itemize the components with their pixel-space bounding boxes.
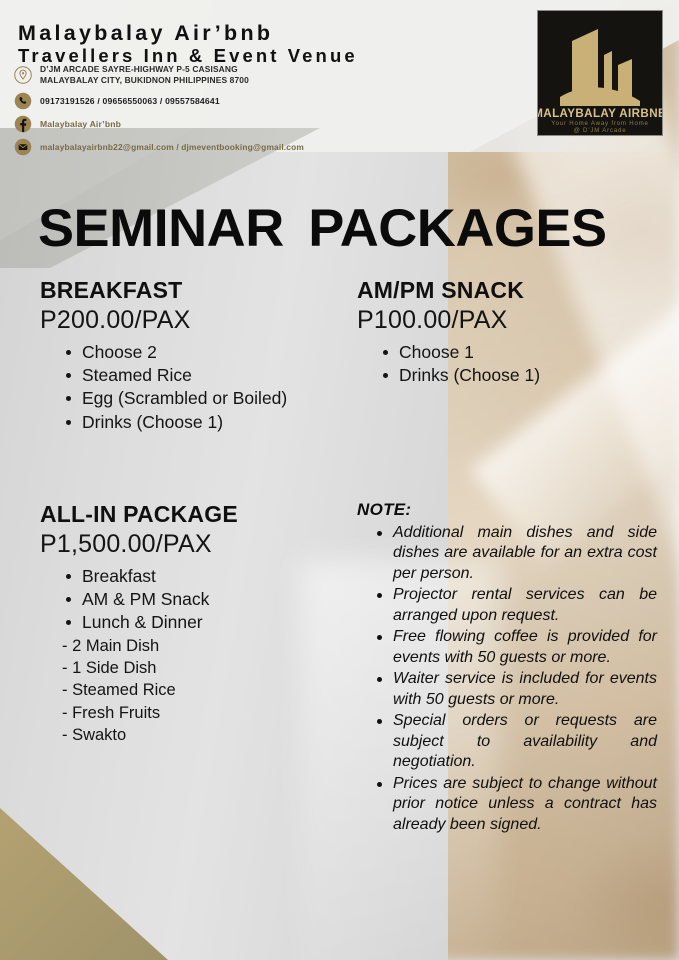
title-part-2: PACKAGES: [308, 199, 606, 258]
note-text: Special orders or requests are subject t…: [393, 712, 657, 770]
contact-address-row: D’JM ARCADE SAYRE-HIGHWAY P-5 CASISANG M…: [14, 62, 304, 88]
list-item: Egg (Scrambled or Boiled): [66, 387, 287, 410]
note-block: NOTE: Additional main dishes and side di…: [357, 500, 657, 836]
list-item: Drinks (Choose 1): [66, 411, 287, 434]
package-all-in-name: ALL-IN PACKAGE: [40, 502, 238, 528]
envelope-icon: [14, 138, 32, 156]
package-snack-name: AM/PM SNACK: [357, 278, 540, 304]
list-item: Projector rental services can be arrange…: [377, 585, 657, 626]
svg-text:@ D’JM Arcade: @ D’JM Arcade: [574, 127, 627, 134]
package-snack-price: P100.00/PAX: [357, 305, 540, 335]
brand-name: Malaybalay Air’bnb: [18, 22, 358, 45]
list-item: - 1 Side Dish: [62, 657, 238, 679]
note-items: Additional main dishes and side dishes a…: [357, 523, 657, 835]
package-all-in-items: Breakfast AM & PM Snack Lunch & Dinner: [40, 565, 238, 635]
package-breakfast: BREAKFAST P200.00/PAX Choose 2 Steamed R…: [40, 278, 287, 434]
package-breakfast-price: P200.00/PAX: [40, 305, 287, 335]
list-item: Choose 2: [66, 341, 287, 364]
page-title: SEMINARPACKAGES: [38, 202, 670, 255]
brand-block: Malaybalay Air’bnb Travellers Inn & Even…: [18, 22, 358, 66]
list-item: - Swakto: [62, 724, 238, 746]
contact-list: D’JM ARCADE SAYRE-HIGHWAY P-5 CASISANG M…: [14, 62, 304, 159]
list-item: Additional main dishes and side dishes a…: [377, 523, 657, 584]
note-text: Projector rental services can be arrange…: [393, 586, 657, 623]
note-text: Additional main dishes and side dishes a…: [393, 524, 657, 582]
package-all-in: ALL-IN PACKAGE P1,500.00/PAX Breakfast A…: [40, 502, 238, 747]
contact-facebook-row: Malaybalay Air’bnb: [14, 113, 304, 134]
title-part-1: SEMINAR: [38, 199, 284, 258]
package-breakfast-name: BREAKFAST: [40, 278, 287, 304]
package-all-in-price: P1,500.00/PAX: [40, 529, 238, 559]
package-breakfast-items: Choose 2 Steamed Rice Egg (Scrambled or …: [40, 341, 287, 434]
address-line-1: D’JM ARCADE SAYRE-HIGHWAY P-5 CASISANG: [40, 64, 249, 75]
facebook-icon: [14, 115, 32, 133]
contact-phone-row: 09173191526 / 09656550063 / 09557584641: [14, 90, 304, 111]
list-item: Free flowing coffee is provided for even…: [377, 627, 657, 668]
list-item: - Steamed Rice: [62, 679, 238, 701]
list-item: Prices are subject to change without pri…: [377, 774, 657, 835]
location-pin-icon: [14, 66, 32, 84]
package-snack-items: Choose 1 Drinks (Choose 1): [357, 341, 540, 388]
svg-text:Your Home Away from Home: Your Home Away from Home: [551, 120, 648, 127]
package-all-in-sub-items: - 2 Main Dish - 1 Side Dish - Steamed Ri…: [40, 635, 238, 747]
list-item: Breakfast: [66, 565, 238, 588]
list-item: Special orders or requests are subject t…: [377, 711, 657, 772]
list-item: Waiter service is included for events wi…: [377, 669, 657, 710]
email-addresses[interactable]: malaybalayairbnb22@gmail.com / djmeventb…: [40, 142, 304, 152]
svg-text:MALAYBALAY AIRBNB: MALAYBALAY AIRBNB: [538, 107, 662, 120]
list-item: Choose 1: [383, 341, 540, 364]
phone-icon: [14, 92, 32, 110]
poster: Malaybalay Air’bnb Travellers Inn & Even…: [0, 0, 679, 960]
list-item: Steamed Rice: [66, 364, 287, 387]
contact-address-text: D’JM ARCADE SAYRE-HIGHWAY P-5 CASISANG M…: [40, 64, 249, 86]
list-item: - Fresh Fruits: [62, 702, 238, 724]
facebook-handle[interactable]: Malaybalay Air’bnb: [40, 119, 121, 129]
phone-numbers[interactable]: 09173191526 / 09656550063 / 09557584641: [40, 96, 220, 106]
contact-email-row: malaybalayairbnb22@gmail.com / djmeventb…: [14, 136, 304, 157]
note-text: Prices are subject to change without pri…: [393, 775, 657, 833]
note-text: Waiter service is included for events wi…: [393, 670, 657, 707]
note-title: NOTE:: [357, 500, 657, 520]
list-item: Lunch & Dinner: [66, 611, 238, 634]
package-snack: AM/PM SNACK P100.00/PAX Choose 1 Drinks …: [357, 278, 540, 387]
note-text: Free flowing coffee is provided for even…: [393, 628, 657, 665]
list-item: - 2 Main Dish: [62, 635, 238, 657]
list-item: AM & PM Snack: [66, 588, 238, 611]
address-line-2: MALAYBALAY CITY, BUKIDNON PHILIPPINES 87…: [40, 75, 249, 86]
list-item: Drinks (Choose 1): [383, 364, 540, 387]
company-logo: MALAYBALAY AIRBNB Your Home Away from Ho…: [537, 10, 663, 136]
